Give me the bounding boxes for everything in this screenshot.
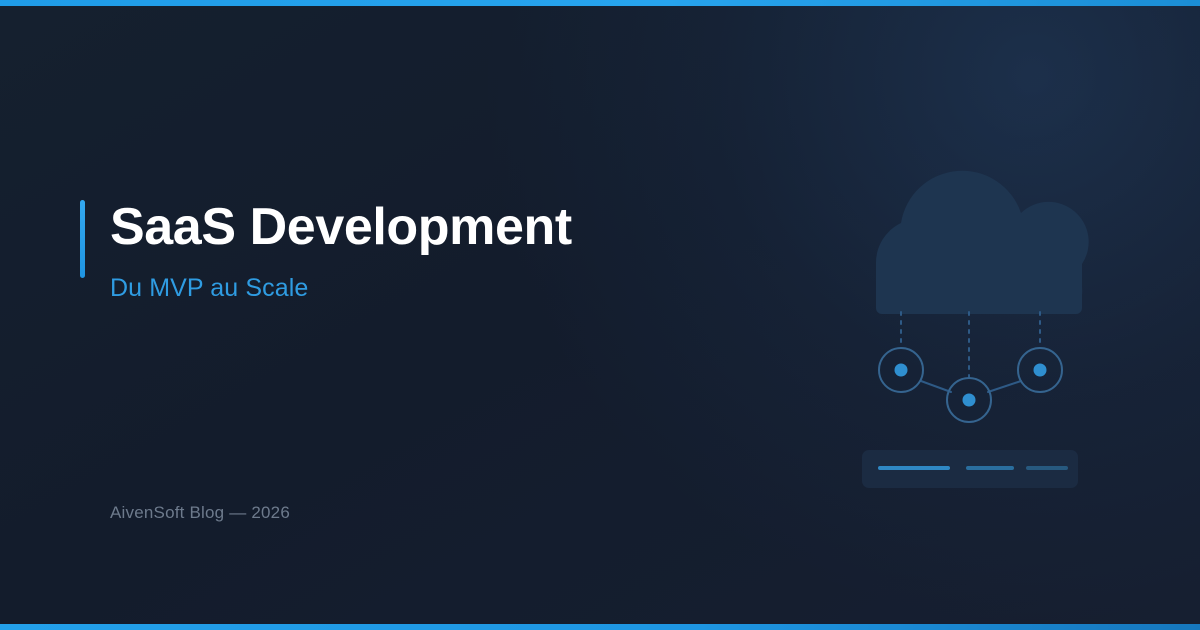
accent-bar: [80, 200, 85, 278]
footer-attribution: AivenSoft Blog — 2026: [110, 502, 290, 524]
cloud-icon: [876, 171, 1089, 314]
page-title: SaaS Development: [110, 196, 740, 258]
server-bar: [862, 450, 1078, 488]
node-link-left-center: [921, 381, 951, 392]
banner-text-block: SaaS Development Du MVP au Scale: [80, 196, 740, 304]
node-link-center-right: [988, 381, 1021, 392]
node-right: [1018, 348, 1062, 392]
node-center: [947, 378, 991, 422]
node-left: [879, 348, 923, 392]
cloud-network-illustration: [838, 160, 1108, 510]
server-bar-line-3: [1026, 466, 1068, 470]
top-accent-rule: [0, 0, 1200, 6]
node-link-lines: [921, 381, 1021, 392]
server-bar-line-1: [878, 466, 950, 470]
banner-canvas: SaaS Development Du MVP au Scale AivenSo…: [0, 0, 1200, 630]
page-subtitle: Du MVP au Scale: [80, 258, 740, 304]
title-row: SaaS Development: [80, 196, 740, 258]
network-nodes: [879, 348, 1062, 422]
connector-lines: [901, 312, 1040, 378]
bottom-accent-rule: [0, 624, 1200, 630]
server-bar-line-2: [966, 466, 1014, 470]
